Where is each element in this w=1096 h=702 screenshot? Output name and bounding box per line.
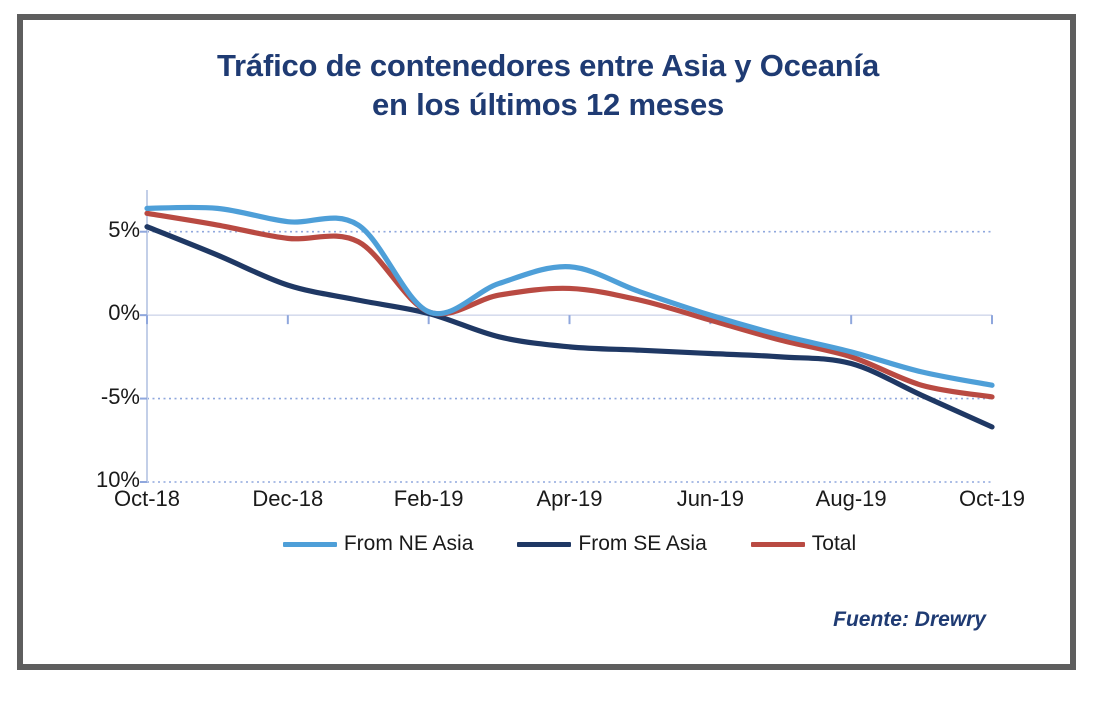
- legend-item-from-ne-asia[interactable]: From NE Asia: [283, 532, 474, 556]
- x-tick-label: Oct-19: [937, 486, 1047, 512]
- legend-item-total[interactable]: Total: [751, 532, 856, 556]
- y-tick-label: -5%: [78, 384, 140, 410]
- x-tick-label: Feb-19: [374, 486, 484, 512]
- legend-swatch: [517, 542, 571, 547]
- x-tick-label: Apr-19: [515, 486, 625, 512]
- x-tick-label: Jun-19: [655, 486, 765, 512]
- x-tick-label: Dec-18: [233, 486, 343, 512]
- plot-svg: [147, 190, 992, 482]
- chart-legend: From NE AsiaFrom SE AsiaTotal: [147, 528, 992, 560]
- chart-title-line-2: en los últimos 12 meses: [0, 85, 1096, 124]
- x-tick-label: Aug-19: [796, 486, 906, 512]
- legend-swatch: [751, 542, 805, 547]
- legend-label: From NE Asia: [344, 532, 474, 556]
- legend-item-from-se-asia[interactable]: From SE Asia: [517, 532, 706, 556]
- y-axis-labels: 5%0%-5%10%: [78, 190, 140, 482]
- series-line-from-se-asia: [147, 227, 992, 427]
- legend-label: From SE Asia: [578, 532, 706, 556]
- chart-figure: Tráfico de contenedores entre Asia y Oce…: [0, 0, 1096, 702]
- legend-label: Total: [812, 532, 856, 556]
- chart-title: Tráfico de contenedores entre Asia y Oce…: [0, 46, 1096, 124]
- x-axis-labels: Oct-18Dec-18Feb-19Apr-19Jun-19Aug-19Oct-…: [147, 486, 992, 516]
- legend-swatch: [283, 542, 337, 547]
- source-note: Fuente: Drewry: [833, 608, 986, 632]
- y-tick-label: 0%: [78, 300, 140, 326]
- x-tick-label: Oct-18: [92, 486, 202, 512]
- plot-area: [147, 190, 992, 482]
- chart-title-line-1: Tráfico de contenedores entre Asia y Oce…: [0, 46, 1096, 85]
- y-tick-label: 5%: [78, 217, 140, 243]
